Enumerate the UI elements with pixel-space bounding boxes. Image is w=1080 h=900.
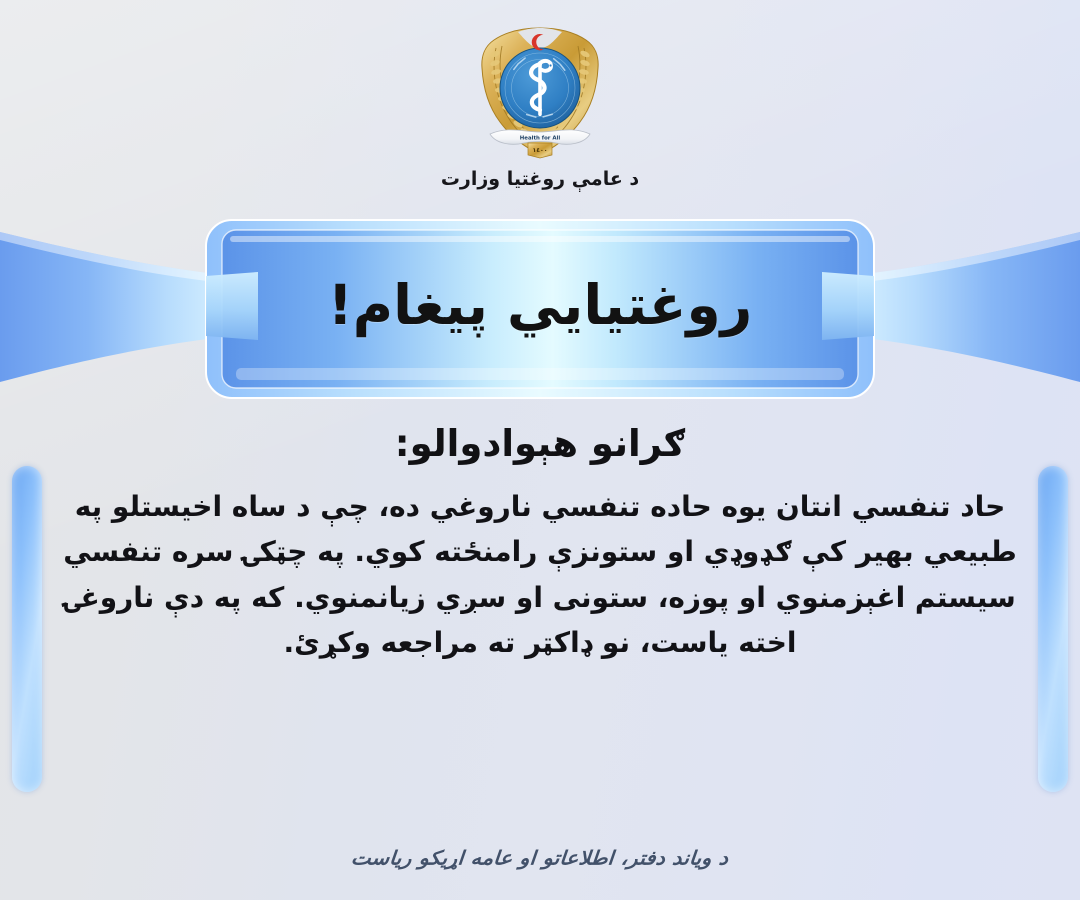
emblem-year-tab: ١٤٠٠ <box>528 143 552 158</box>
message-content: ګرانو هېوادوالو: حاد تنفسي انتان يوه حاد… <box>54 420 1026 666</box>
greeting-heading: ګرانو هېوادوالو: <box>54 420 1026 468</box>
ribbon-banner <box>0 210 1080 410</box>
right-accent-bar <box>1038 466 1068 792</box>
message-line: اخته ياست، نو ډاکټر ته مراجعه وکړئ. <box>54 620 1026 665</box>
ministry-emblem-icon: Health for All ١٤٠٠ <box>472 22 608 162</box>
message-line: طبيعي بهير کې ګډوډي او ستونزې رامنځته کو… <box>54 529 1026 574</box>
message-paragraph: حاد تنفسي انتان يوه حاده تنفسي ناروغي ده… <box>54 484 1026 665</box>
footer: د وياند دفتر، اطلاعاتو او عامه اړيکو ريا… <box>0 845 1080 870</box>
poster-canvas: Health for All ١٤٠٠ د عامې روغتيا وزارت <box>0 0 1080 900</box>
logo-header: Health for All ١٤٠٠ د عامې روغتيا وزارت <box>0 22 1080 190</box>
svg-text:Health for All: Health for All <box>520 136 561 142</box>
svg-text:١٤٠٠: ١٤٠٠ <box>532 147 547 154</box>
footer-calligraphy-signature: د وياند دفتر، اطلاعاتو او عامه اړيکو ريا… <box>351 846 730 869</box>
message-line: سيستم اغېزمنوي او پوزه، ستونی او سږي زيا… <box>54 575 1026 620</box>
left-accent-bar <box>12 466 42 792</box>
message-line: حاد تنفسي انتان يوه حاده تنفسي ناروغي ده… <box>54 484 1026 529</box>
ministry-name-label: د عامې روغتيا وزارت <box>0 168 1080 190</box>
